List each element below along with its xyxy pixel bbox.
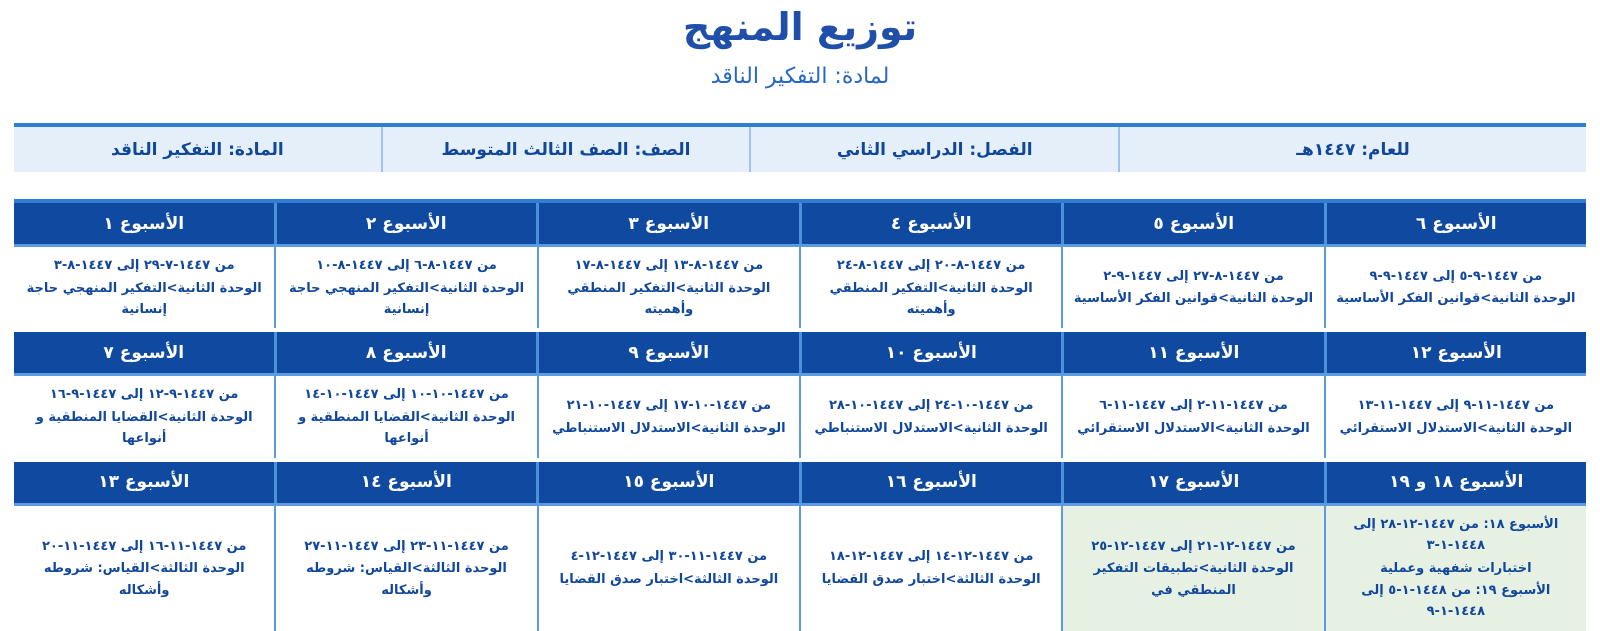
week-header-cell[interactable]: الأسبوع ١٢ [1324,332,1587,373]
week-topic: الوحدة الثانية>التفكير المنهجي حاجة إنسا… [20,277,268,321]
week-dates: من ١٤٤٧-١٠-١٠ إلى ١٤٤٧-١٠-١٤ [282,384,530,405]
info-year: للعام: ١٤٤٧هـ [1118,127,1586,172]
week-dates: من ١٤٤٧-٨-٢٠ إلى ١٤٤٧-٨-٢٤ [807,255,1055,276]
week-topic: الوحدة الثانية>قوانين الفكر الأساسية [1332,287,1580,309]
week-topic: الوحدة الثالثة>اختبار صدق القضايا [545,568,793,590]
week-content-cell[interactable]: من ١٤٤٧-١١-٣٠ إلى ١٤٤٧-١٢-٤الوحدة الثالث… [537,506,799,631]
week-content-cell[interactable]: من ١٤٤٧-١١-٢ إلى ١٤٤٧-١١-٦الوحدة الثانية… [1061,376,1323,457]
week-content-cell[interactable]: من ١٤٤٧-١٠-٢٤ إلى ١٤٤٧-١٠-٢٨الوحدة الثان… [799,376,1061,457]
page-subtitle: لمادة: التفكير الناقد [0,50,1600,90]
course-info-bar: للعام: ١٤٤٧هـ الفصل: الدراسي الثاني الصف… [14,123,1586,172]
week-dates: من ١٤٤٧-٨-٢٧ إلى ١٤٤٧-٩-٢ [1069,266,1317,287]
week-row-block: الأسبوع ٦الأسبوع ٥الأسبوع ٤الأسبوع ٣الأس… [14,203,1586,328]
week-content-cell[interactable]: من ١٤٤٧-٩-١٢ إلى ١٤٤٧-٩-١٦الوحدة الثانية… [14,376,274,457]
week-dates: من ١٤٤٧-٩-١٢ إلى ١٤٤٧-٩-١٦ [20,384,268,405]
week-dates: من ١٤٤٧-٩-٥ إلى ١٤٤٧-٩-٩ [1332,266,1580,287]
week-extra-dates: الأسبوع ١٩: من ١٤٤٨-١-٥ إلى ١٤٤٨-١-٩ [1332,579,1580,623]
week-content-cell[interactable]: من ١٤٤٧-٨-٢٧ إلى ١٤٤٧-٩-٢الوحدة الثانية>… [1061,247,1323,328]
page-title: توزيع المنهج [0,4,1600,50]
week-header-row: الأسبوع ٦الأسبوع ٥الأسبوع ٤الأسبوع ٣الأس… [14,203,1586,244]
week-topic: الوحدة الثانية>الاستدلال الاستنباطي [807,417,1055,439]
week-dates: من ١٤٤٧-١٢-٢١ إلى ١٤٤٧-١٢-٢٥ [1069,536,1317,557]
week-header-cell[interactable]: الأسبوع ١٧ [1061,462,1324,503]
week-dates: من ١٤٤٧-٧-٢٩ إلى ١٤٤٧-٨-٣ [20,255,268,276]
week-header-cell[interactable]: الأسبوع ١٦ [799,462,1062,503]
week-header-cell[interactable]: الأسبوع ٣ [536,203,799,244]
week-topic: الوحدة الثانية>الاستدلال الاستنباطي [545,417,793,439]
week-dates: من ١٤٤٧-١١-١٦ إلى ١٤٤٧-١١-٢٠ [20,536,268,557]
info-subject: المادة: التفكير الناقد [14,127,381,172]
week-topic: الوحدة الثانية>القضايا المنطقية و أنواعه… [282,406,530,450]
week-row-block: الأسبوع ١٢الأسبوع ١١الأسبوع ١٠الأسبوع ٩ا… [14,332,1586,457]
week-dates: من ١٤٤٧-٨-٦ إلى ١٤٤٧-٨-١٠ [282,255,530,276]
week-header-cell[interactable]: الأسبوع ١ [14,203,274,244]
week-topic: الوحدة الثالثة>اختبار صدق القضايا [807,568,1055,590]
week-topic: الوحدة الثانية>التفكير المنطقي وأهميته [545,277,793,321]
week-dates: من ١٤٤٧-١١-٢٣ إلى ١٤٤٧-١١-٢٧ [282,536,530,557]
week-topic: اختبارات شفهية وعملية [1332,557,1580,579]
week-row-block: الأسبوع ١٨ و ١٩الأسبوع ١٧الأسبوع ١٦الأسب… [14,462,1586,631]
week-content-cell[interactable]: من ١٤٤٧-١٠-١٧ إلى ١٤٤٧-١٠-٢١الوحدة الثان… [537,376,799,457]
week-content-cell[interactable]: من ١٤٤٧-٧-٢٩ إلى ١٤٤٧-٨-٣الوحدة الثانية>… [14,247,274,328]
week-header-cell[interactable]: الأسبوع ١٤ [274,462,537,503]
week-header-cell[interactable]: الأسبوع ٩ [536,332,799,373]
week-dates: من ١٤٤٧-١١-٣٠ إلى ١٤٤٧-١٢-٤ [545,546,793,567]
week-header-cell[interactable]: الأسبوع ١٠ [799,332,1062,373]
week-header-cell[interactable]: الأسبوع ٧ [14,332,274,373]
week-dates: من ١٤٤٧-١٠-١٧ إلى ١٤٤٧-١٠-٢١ [545,395,793,416]
week-content-cell[interactable]: من ١٤٤٧-١١-١٦ إلى ١٤٤٧-١١-٢٠الوحدة الثال… [14,506,274,631]
week-topic: الوحدة الثانية>قوانين الفكر الأساسية [1069,287,1317,309]
week-dates: من ١٤٤٧-١١-٢ إلى ١٤٤٧-١١-٦ [1069,395,1317,416]
week-topic: الوحدة الثانية>التفكير المنهجي حاجة إنسا… [282,277,530,321]
info-grade: الصف: الصف الثالث المتوسط [381,127,750,172]
week-header-row: الأسبوع ١٢الأسبوع ١١الأسبوع ١٠الأسبوع ٩ا… [14,332,1586,373]
week-header-cell[interactable]: الأسبوع ٥ [1061,203,1324,244]
week-topic: الوحدة الثانية>تطبيقات التفكير المنطقي ف… [1069,557,1317,601]
week-topic: الوحدة الثالثة>القياس: شروطه وأشكاله [20,557,268,601]
week-content-cell[interactable]: من ١٤٤٧-٨-٦ إلى ١٤٤٧-٨-١٠الوحدة الثانية>… [274,247,536,328]
week-content-cell[interactable]: من ١٤٤٧-١١-٩ إلى ١٤٤٧-١١-١٣الوحدة الثاني… [1324,376,1586,457]
week-content-cell[interactable]: من ١٤٤٧-١١-٢٣ إلى ١٤٤٧-١١-٢٧الوحدة الثال… [274,506,536,631]
week-topic: الوحدة الثالثة>القياس: شروطه وأشكاله [282,557,530,601]
week-header-row: الأسبوع ١٨ و ١٩الأسبوع ١٧الأسبوع ١٦الأسب… [14,462,1586,503]
week-content-cell[interactable]: من ١٤٤٧-٩-٥ إلى ١٤٤٧-٩-٩الوحدة الثانية>ق… [1324,247,1586,328]
week-body-row: من ١٤٤٧-١١-٩ إلى ١٤٤٧-١١-١٣الوحدة الثاني… [14,373,1586,457]
week-header-cell[interactable]: الأسبوع ١١ [1061,332,1324,373]
week-dates: من ١٤٤٧-١١-٩ إلى ١٤٤٧-١١-١٣ [1332,395,1580,416]
weeks-grid: الأسبوع ٦الأسبوع ٥الأسبوع ٤الأسبوع ٣الأس… [14,199,1586,631]
week-dates: من ١٤٤٧-٨-١٣ إلى ١٤٤٧-٨-١٧ [545,255,793,276]
week-content-cell[interactable]: من ١٤٤٧-١٢-٢١ إلى ١٤٤٧-١٢-٢٥الوحدة الثان… [1061,506,1323,631]
week-content-cell[interactable]: من ١٤٤٧-٨-٢٠ إلى ١٤٤٧-٨-٢٤الوحدة الثانية… [799,247,1061,328]
info-term: الفصل: الدراسي الثاني [749,127,1118,172]
week-dates: من ١٤٤٧-١٠-٢٤ إلى ١٤٤٧-١٠-٢٨ [807,395,1055,416]
week-header-cell[interactable]: الأسبوع ٦ [1324,203,1587,244]
week-content-cell[interactable]: من ١٤٤٧-٨-١٣ إلى ١٤٤٧-٨-١٧الوحدة الثانية… [537,247,799,328]
week-topic: الوحدة الثانية>التفكير المنطقي وأهميته [807,277,1055,321]
week-header-cell[interactable]: الأسبوع ١٥ [536,462,799,503]
week-header-cell[interactable]: الأسبوع ١٣ [14,462,274,503]
week-topic: الوحدة الثانية>الاستدلال الاستقرائي [1332,417,1580,439]
week-header-cell[interactable]: الأسبوع ٨ [274,332,537,373]
week-header-cell[interactable]: الأسبوع ١٨ و ١٩ [1324,462,1587,503]
week-dates: الأسبوع ١٨: من ١٤٤٧-١٢-٢٨ إلى ١٤٤٨-١-٣ [1332,514,1580,557]
week-topic: الوحدة الثانية>القضايا المنطقية و أنواعه… [20,406,268,450]
week-header-cell[interactable]: الأسبوع ٤ [799,203,1062,244]
document-header: توزيع المنهج لمادة: التفكير الناقد [0,0,1600,90]
week-dates: من ١٤٤٧-١٢-١٤ إلى ١٤٤٧-١٢-١٨ [807,546,1055,567]
week-content-cell[interactable]: الأسبوع ١٨: من ١٤٤٧-١٢-٢٨ إلى ١٤٤٨-١-٣اخ… [1324,506,1586,631]
week-header-cell[interactable]: الأسبوع ٢ [274,203,537,244]
week-content-cell[interactable]: من ١٤٤٧-١٠-١٠ إلى ١٤٤٧-١٠-١٤الوحدة الثان… [274,376,536,457]
week-topic: الوحدة الثانية>الاستدلال الاستقرائي [1069,417,1317,439]
week-body-row: من ١٤٤٧-٩-٥ إلى ١٤٤٧-٩-٩الوحدة الثانية>ق… [14,244,1586,328]
week-content-cell[interactable]: من ١٤٤٧-١٢-١٤ إلى ١٤٤٧-١٢-١٨الوحدة الثال… [799,506,1061,631]
